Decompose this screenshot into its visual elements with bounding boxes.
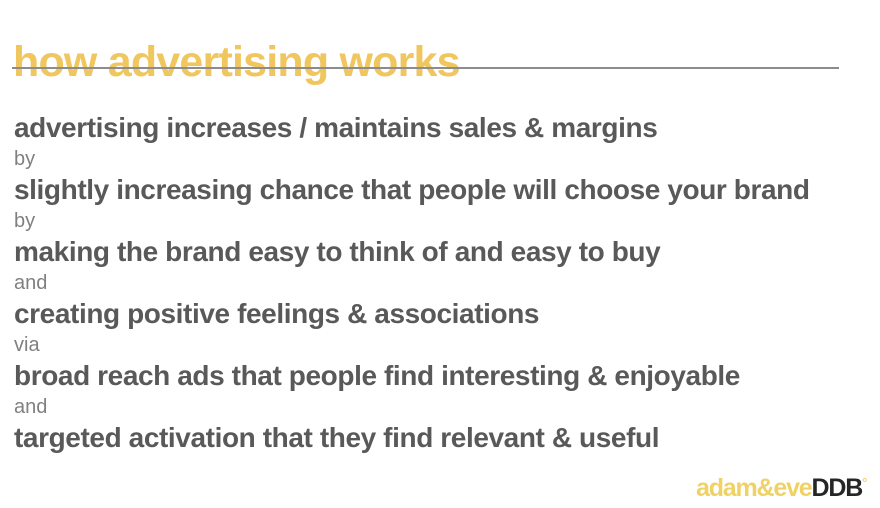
logo-secondary-text: DDB	[811, 474, 862, 502]
statement-line: slightly increasing chance that people w…	[14, 174, 864, 206]
connector-line: and	[14, 392, 864, 422]
logo-primary-text: adam&eve	[696, 474, 811, 502]
connector-line: by	[14, 144, 864, 174]
connector-line: and	[14, 268, 864, 298]
title-divider	[12, 67, 839, 69]
statement-line: advertising increases / maintains sales …	[14, 112, 864, 144]
statement-line: targeted activation that they find relev…	[14, 422, 864, 454]
statement-line: broad reach ads that people find interes…	[14, 360, 864, 392]
statement-stack: advertising increases / maintains sales …	[14, 112, 864, 454]
page-title: how advertising works	[13, 37, 460, 87]
brand-logo: adam&eveDDB°	[696, 470, 867, 501]
statement-line: creating positive feelings & association…	[14, 298, 864, 330]
connector-line: by	[14, 206, 864, 236]
degree-mark-icon: °	[862, 475, 867, 490]
slide-canvas: how advertising works advertising increa…	[0, 0, 880, 508]
connector-line: via	[14, 330, 864, 360]
statement-line: making the brand easy to think of and ea…	[14, 236, 864, 268]
